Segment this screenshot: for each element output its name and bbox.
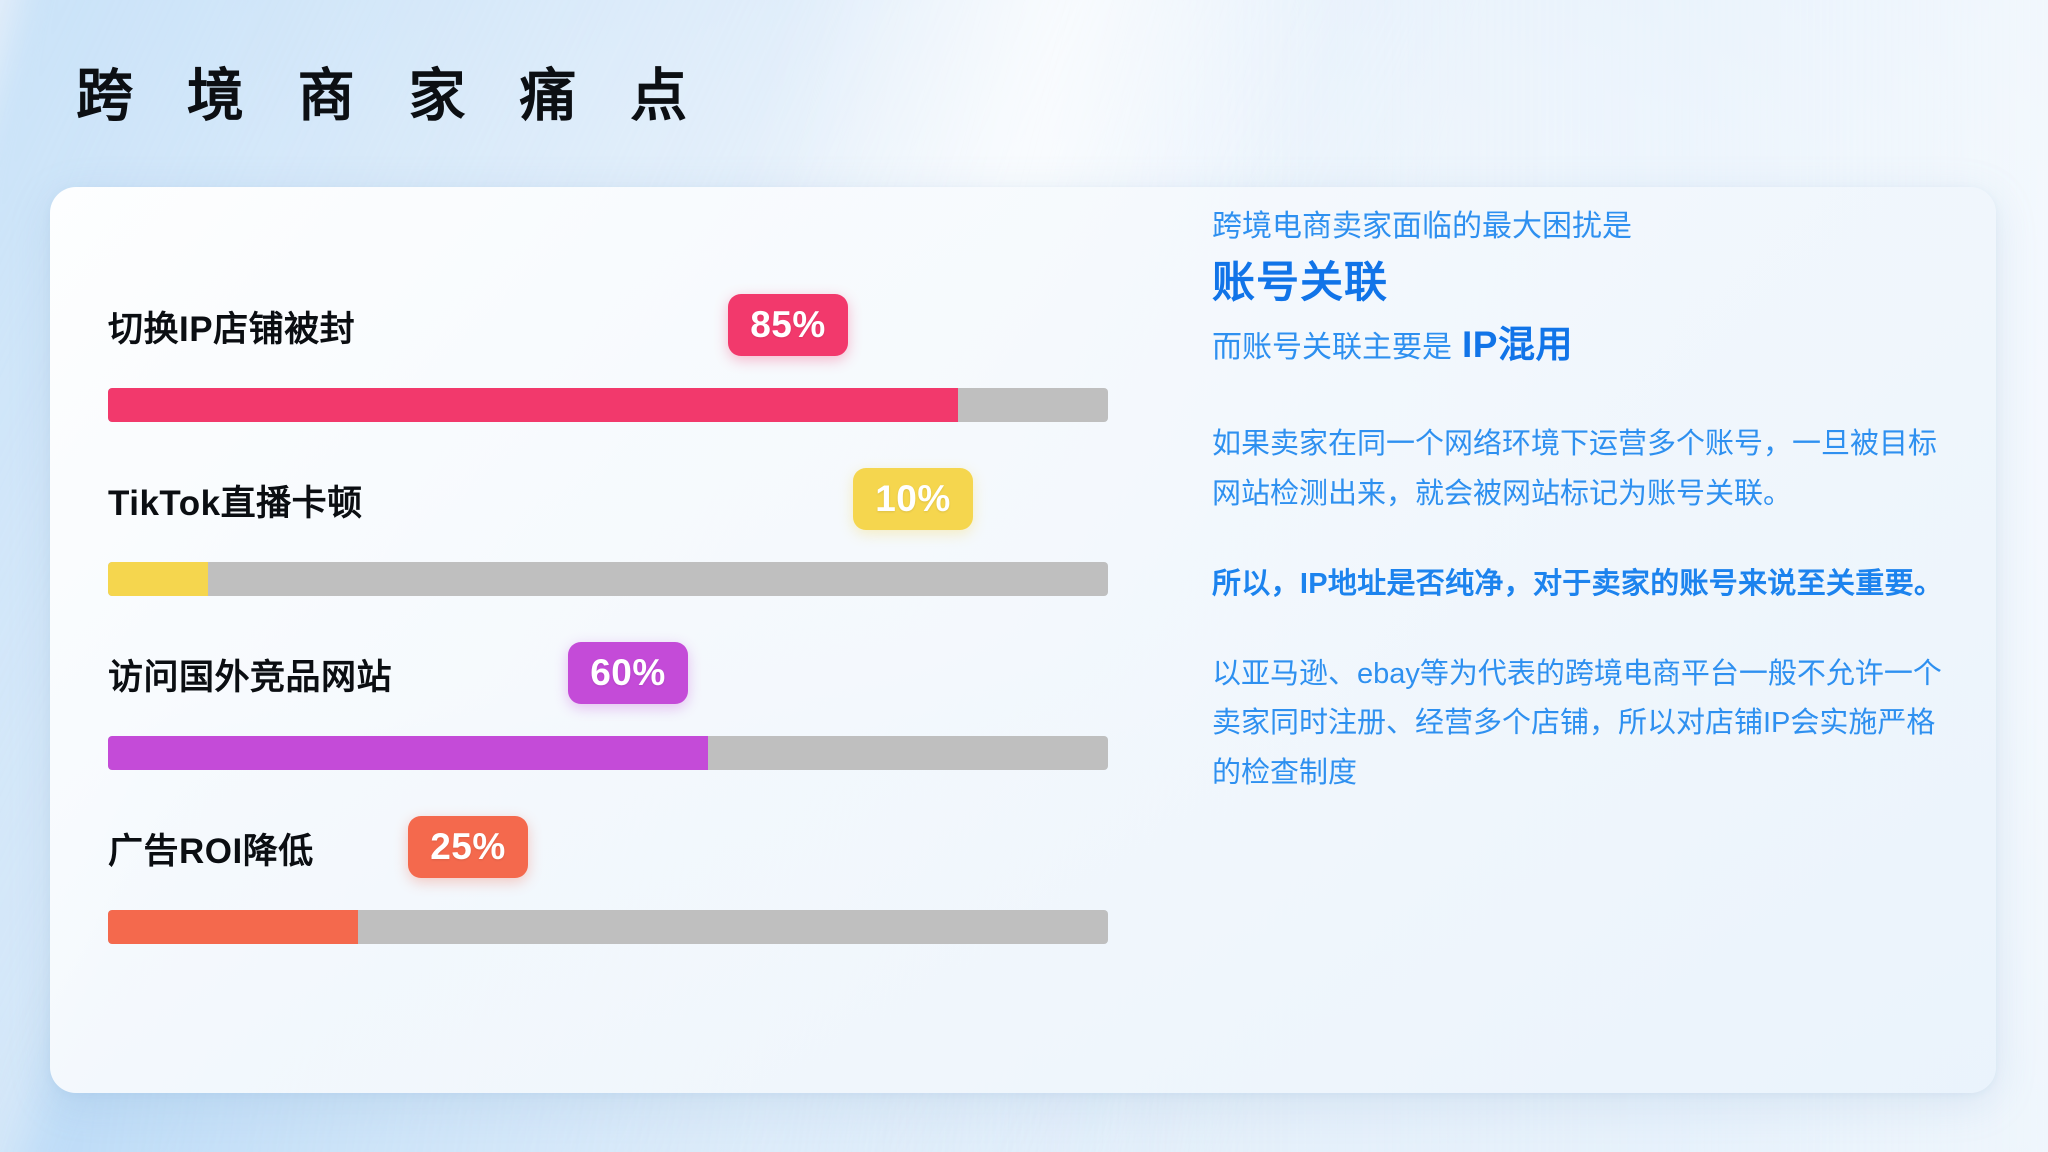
bar-value-badge: 60% xyxy=(568,642,688,704)
bar-header: 访问国外竞品网站 60% xyxy=(108,628,1170,720)
panel-paragraph-1: 如果卖家在同一个网络环境下运营多个账号，一旦被目标网站检测出来，就会被网站标记为… xyxy=(1212,420,1952,520)
bar-label: 广告ROI降低 xyxy=(108,823,314,874)
main-card: 切换IP店铺被封 85% TikTok直播卡顿 10% 访问国外竞品网站 60% xyxy=(50,187,1996,1093)
panel-hero-text: 账号关联 xyxy=(1212,257,1952,311)
bar-track xyxy=(108,736,1108,770)
bar-label: 切换IP店铺被封 xyxy=(108,301,355,352)
panel-subtitle-prefix: 而账号关联主要是 xyxy=(1212,331,1452,364)
bar-label: 访问国外竞品网站 xyxy=(108,649,392,700)
bar-fill xyxy=(108,562,208,596)
bar-value-badge: 25% xyxy=(408,816,528,878)
bar-row: 访问国外竞品网站 60% xyxy=(108,628,1170,802)
panel-subtitle: 而账号关联主要是IP混用 xyxy=(1212,318,1952,372)
bar-value-badge: 10% xyxy=(853,468,973,530)
bar-fill xyxy=(108,736,708,770)
explanation-panel: 跨境电商卖家面临的最大困扰是 账号关联 而账号关联主要是IP混用 如果卖家在同一… xyxy=(1212,187,1952,799)
panel-paragraph-2: 所以，IP地址是否纯净，对于卖家的账号来说至关重要。 xyxy=(1212,560,1952,610)
bar-row: 切换IP店铺被封 85% xyxy=(108,280,1170,454)
page-title: 跨 境 商 家 痛 点 xyxy=(76,62,706,130)
bar-label: TikTok直播卡顿 xyxy=(108,475,363,526)
bar-row: 广告ROI降低 25% xyxy=(108,802,1170,976)
bar-fill xyxy=(108,388,958,422)
bar-row: TikTok直播卡顿 10% xyxy=(108,454,1170,628)
panel-subtitle-strong: IP混用 xyxy=(1462,324,1573,365)
panel-paragraph-3: 以亚马逊、ebay等为代表的跨境电商平台一般不允许一个卖家同时注册、经营多个店铺… xyxy=(1212,650,1952,800)
bar-fill xyxy=(108,910,358,944)
bar-header: 广告ROI降低 25% xyxy=(108,802,1170,894)
bar-track xyxy=(108,388,1108,422)
bar-value-badge: 85% xyxy=(728,294,848,356)
panel-lead-text: 跨境电商卖家面临的最大困扰是 xyxy=(1212,205,1952,249)
bar-track xyxy=(108,910,1108,944)
pain-points-bar-chart: 切换IP店铺被封 85% TikTok直播卡顿 10% 访问国外竞品网站 60% xyxy=(108,280,1170,976)
bar-track xyxy=(108,562,1108,596)
bar-header: 切换IP店铺被封 85% xyxy=(108,280,1170,372)
bar-header: TikTok直播卡顿 10% xyxy=(108,454,1170,546)
